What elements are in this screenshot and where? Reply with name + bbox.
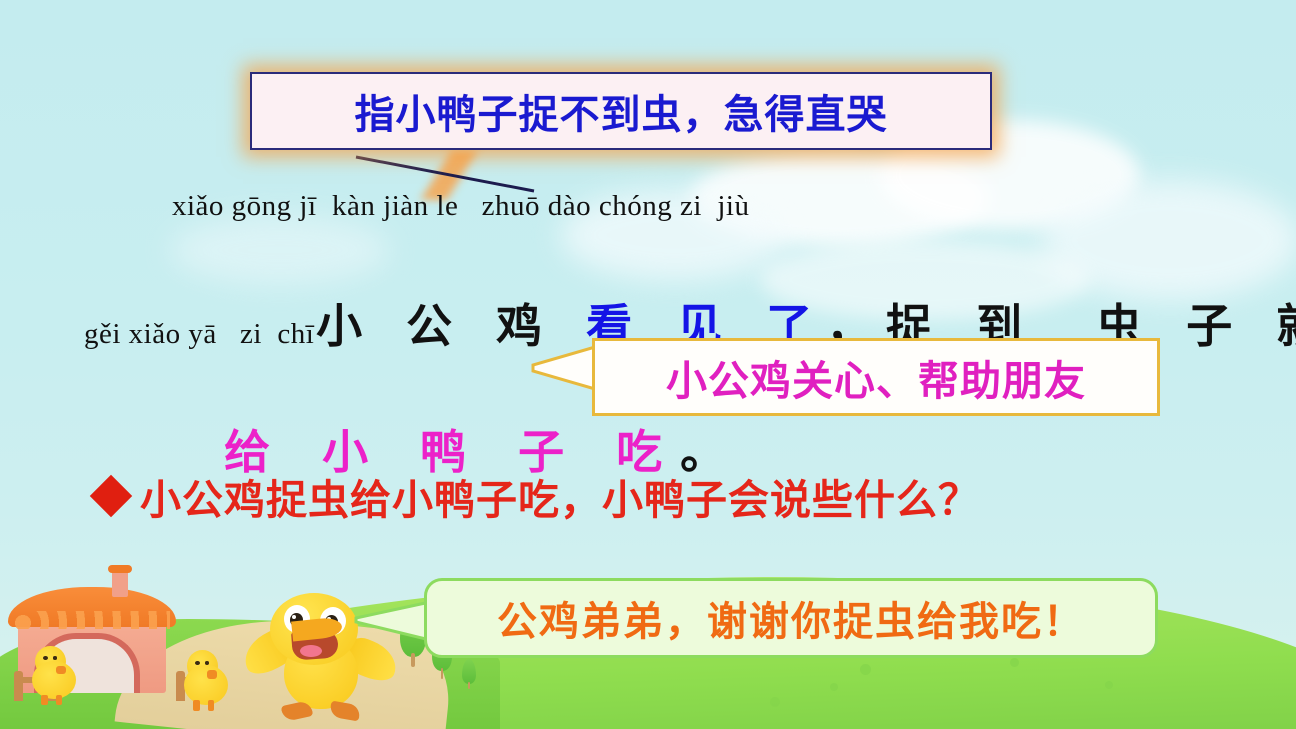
grass-dot xyxy=(770,697,780,707)
callout-bottom-tail xyxy=(352,600,432,642)
tree-illustration xyxy=(462,659,476,689)
diamond-bullet-icon xyxy=(90,475,132,517)
callout-right-text: 小公鸡关心、帮助朋友 xyxy=(666,347,1086,407)
callout-top-text: 指小鸭子捉不到虫，急得直哭 xyxy=(355,82,888,140)
chick-illustration xyxy=(182,655,226,709)
slide-canvas: 指小鸭子捉不到虫，急得直哭 xiǎo gōng jī kàn jiàn le z… xyxy=(0,0,1296,729)
grass-dot xyxy=(860,664,871,675)
question-text: 小公鸡捉虫给小鸭子吃，小鸭子会说些什么？ xyxy=(140,466,980,526)
fence-post xyxy=(14,671,23,701)
pinyin-line-1: xiǎo gōng jī kàn jiàn le zhuō dào chóng … xyxy=(172,190,750,223)
callout-bottom[interactable]: 公鸡弟弟，谢谢你捉虫给我吃！ xyxy=(424,578,1158,658)
callout-right[interactable]: 小公鸡关心、帮助朋友 xyxy=(592,338,1160,416)
grass-dot xyxy=(1010,658,1019,667)
chick-illustration xyxy=(30,651,74,703)
grass-dot xyxy=(1105,681,1113,689)
callout-bottom-text: 公鸡弟弟，谢谢你捉虫给我吃！ xyxy=(497,589,1085,647)
pinyin-line-2: gěi xiǎo yā zi chī xyxy=(84,318,314,351)
callout-right-tail xyxy=(527,345,597,391)
grass-dot xyxy=(830,683,838,691)
question-row: 小公鸡捉虫给小鸭子吃，小鸭子会说些什么？ xyxy=(96,466,980,526)
callout-top[interactable]: 指小鸭子捉不到虫，急得直哭 xyxy=(250,72,992,150)
